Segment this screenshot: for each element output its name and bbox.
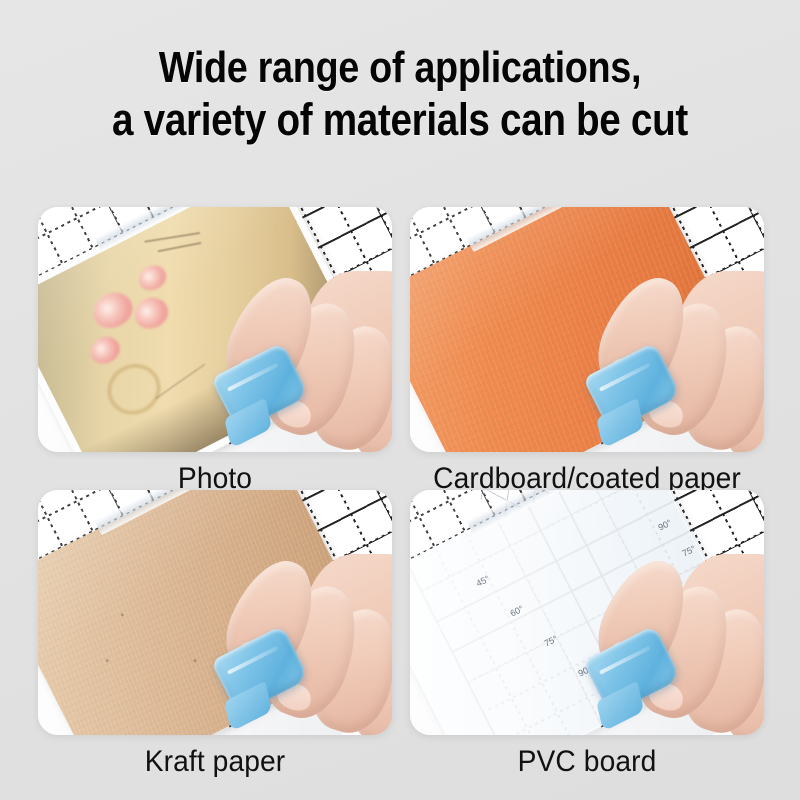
hand xyxy=(212,548,392,735)
handwriting-detail xyxy=(144,232,200,243)
panel-photo: Photo xyxy=(38,207,392,496)
title-line-1: Wide range of applications, xyxy=(56,42,744,94)
rose-detail xyxy=(87,286,138,334)
caption-pvc: PVC board xyxy=(421,745,754,779)
rose-detail xyxy=(129,292,173,334)
caption-kraft: Kraft paper xyxy=(49,745,382,779)
rose-detail xyxy=(86,332,125,369)
panel-pvc-image: 45° 60° 75° 90° 90° 75° xyxy=(410,490,764,735)
page-title: Wide range of applications, a variety of… xyxy=(0,42,800,146)
hand xyxy=(584,265,764,452)
panel-kraft-image: 4 6 8 10 12 14 xyxy=(38,490,392,735)
hand xyxy=(584,548,764,735)
handwriting-detail xyxy=(158,242,202,252)
panel-pvc: 45° 60° 75° 90° 90° 75° xyxy=(410,490,764,779)
title-line-2: a variety of materials can be cut xyxy=(56,94,744,146)
panel-cardboard-image: 4 6 8 10 12 14 16 xyxy=(410,207,764,452)
panel-photo-image xyxy=(38,207,392,452)
panel-cardboard: 4 6 8 10 12 14 16 xyxy=(410,207,764,496)
hand xyxy=(212,265,392,452)
rose-detail xyxy=(134,261,170,295)
application-panel-grid: Photo 4 6 8 10 12 14 16 xyxy=(38,207,764,735)
panel-kraft: 4 6 8 10 12 14 xyxy=(38,490,392,779)
